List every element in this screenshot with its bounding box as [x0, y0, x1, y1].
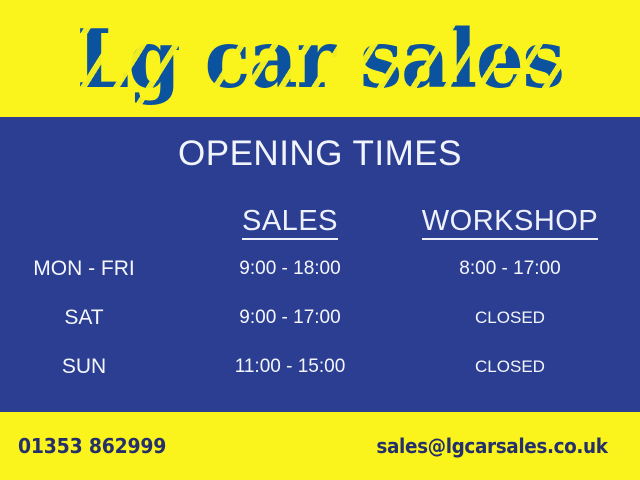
table-header-row: SALES WORKSHOP [0, 202, 640, 244]
company-logo: Lg car sales [82, 23, 558, 95]
contact-footer: 01353 862999 sales@lgcarsales.co.uk [0, 412, 640, 480]
opening-times-panel: OPENING TIMES SALES WORKSHOP MON - FRI 9… [0, 117, 640, 412]
header-banner: Lg car sales [0, 0, 640, 117]
row-day-label: SAT [0, 306, 200, 330]
row-sales-hours: 9:00 - 17:00 [200, 307, 380, 329]
opening-times-table: SALES WORKSHOP MON - FRI 9:00 - 18:00 8:… [0, 202, 640, 391]
page-title: OPENING TIMES [0, 134, 640, 174]
opening-times-poster: Lg car sales OPENING TIMES SALES WORKSHO… [0, 0, 640, 480]
column-header-workshop-label: WORKSHOP [422, 206, 598, 240]
column-header-workshop: WORKSHOP [380, 206, 640, 240]
phone-number[interactable]: 01353 862999 [18, 434, 166, 458]
table-row: MON - FRI 9:00 - 18:00 8:00 - 17:00 [0, 244, 640, 293]
row-day-label: MON - FRI [0, 257, 200, 281]
company-logo-text: Lg car sales [72, 18, 567, 99]
row-workshop-hours: 8:00 - 17:00 [380, 258, 640, 280]
table-row: SUN 11:00 - 15:00 CLOSED [0, 342, 640, 391]
table-row: SAT 9:00 - 17:00 CLOSED [0, 293, 640, 342]
email-address[interactable]: sales@lgcarsales.co.uk [376, 434, 622, 458]
column-header-sales: SALES [200, 206, 380, 240]
row-workshop-hours: CLOSED [380, 357, 640, 377]
row-sales-hours: 9:00 - 18:00 [200, 258, 380, 280]
row-day-label: SUN [0, 355, 200, 379]
row-workshop-hours: CLOSED [380, 308, 640, 328]
row-sales-hours: 11:00 - 15:00 [200, 356, 380, 378]
column-header-sales-label: SALES [242, 206, 338, 240]
